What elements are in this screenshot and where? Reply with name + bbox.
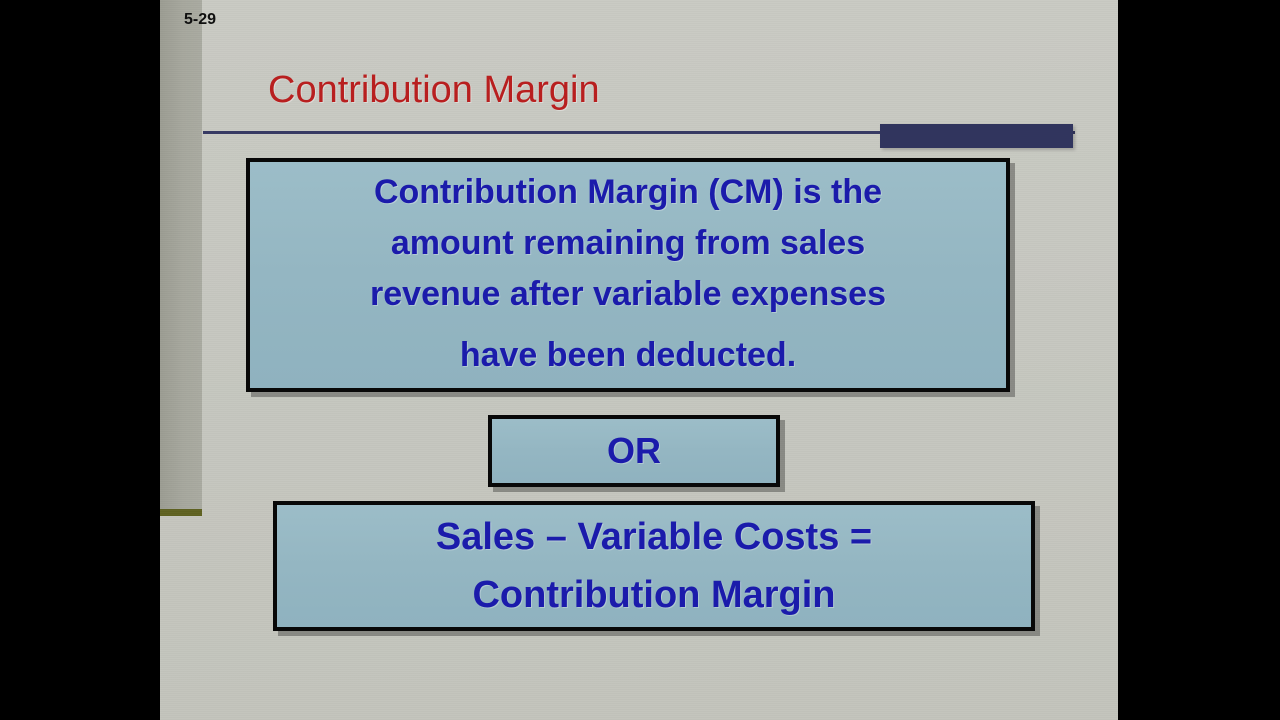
left-decorative-band [160,0,202,509]
connector-label: OR [607,431,661,471]
page-title: Contribution Margin [268,69,600,112]
definition-box: Contribution Margin (CM) is the amount r… [246,158,1010,392]
formula-line-1: Sales – Variable Costs = [436,508,872,566]
formula-box: Sales – Variable Costs = Contribution Ma… [273,501,1035,631]
connector-box: OR [488,415,780,487]
definition-line-1: Contribution Margin (CM) is the [374,167,882,218]
definition-line-4: have been deducted. [460,330,796,381]
left-band-rule [160,509,202,516]
screen: 5-29 Contribution Margin Contribution Ma… [0,0,1280,720]
presentation-slide: 5-29 Contribution Margin Contribution Ma… [160,0,1118,720]
title-accent-block [880,124,1073,148]
formula-line-2: Contribution Margin [472,566,835,624]
definition-line-2: amount remaining from sales [391,218,865,269]
definition-line-3: revenue after variable expenses [370,269,886,320]
slide-number: 5-29 [184,11,216,29]
